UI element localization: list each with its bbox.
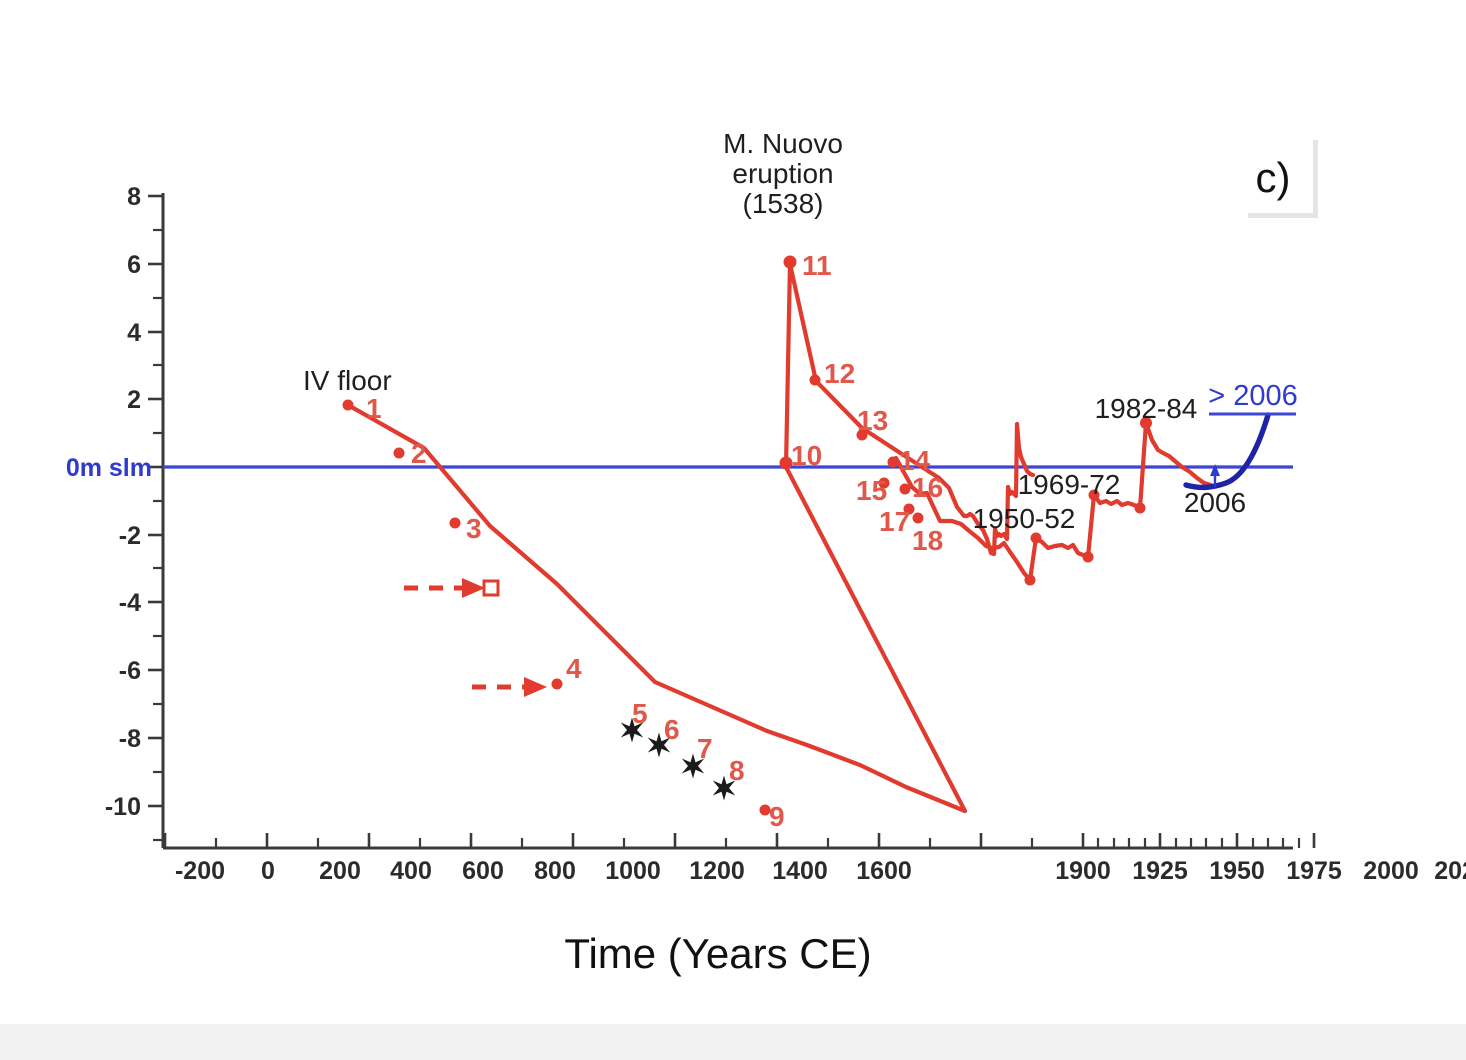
panel-letter-group: c) xyxy=(1243,135,1318,218)
point-label-12: 12 xyxy=(824,358,855,389)
data-point-4 xyxy=(552,679,563,690)
point-label-13: 13 xyxy=(857,405,888,436)
data-point-12 xyxy=(810,375,821,386)
y-tick-label: -8 xyxy=(119,725,141,753)
point-label-1: 1 xyxy=(366,393,382,424)
data-point-16 xyxy=(900,484,911,495)
x-tick-label: 2000 xyxy=(1363,857,1419,885)
point-label-16: 16 xyxy=(912,472,943,503)
x-tick-label: 800 xyxy=(534,857,576,885)
y-tick-label: -2 xyxy=(119,522,141,550)
label-2006: 2006 xyxy=(1184,487,1246,518)
point-label-5: 5 xyxy=(632,698,648,729)
point-label-6: 6 xyxy=(664,714,680,745)
x-tick-label: 1200 xyxy=(689,857,745,885)
x-tick-label: 1950 xyxy=(1209,857,1265,885)
x-axis-title: Time (Years CE) xyxy=(564,930,871,977)
bottom-strip xyxy=(0,1024,1466,1060)
data-point-trough xyxy=(1025,575,1036,586)
point-label-10: 10 xyxy=(791,440,822,471)
x-tick-label: 1600 xyxy=(856,857,912,885)
point-label-15: 15 xyxy=(856,475,887,506)
point-label-17: 17 xyxy=(879,506,910,537)
x-tick-label: 0 xyxy=(261,857,275,885)
chart-svg: 8 6 4 2 -2 -4 -6 -8 -10 xyxy=(0,0,1466,1060)
x-tick-label: 1925 xyxy=(1132,857,1188,885)
x-tick-label: 2025 xyxy=(1434,857,1466,885)
eruption-line-3: (1538) xyxy=(743,188,824,219)
x-tick-label: 600 xyxy=(462,857,504,885)
point-label-3: 3 xyxy=(466,513,482,544)
x-tick-label: 1000 xyxy=(605,857,661,885)
iv-floor-label: IV floor xyxy=(303,365,392,396)
label-gt-2006-group: > 2006 xyxy=(1208,380,1298,414)
y-tick-label: -6 xyxy=(119,657,141,685)
panel-letter: c) xyxy=(1256,154,1291,201)
data-point-3 xyxy=(450,518,461,529)
data-point-11 xyxy=(784,256,797,269)
eruption-line-2: eruption xyxy=(732,158,833,189)
point-label-8: 8 xyxy=(729,755,745,786)
y-tick-label: 2 xyxy=(127,386,141,414)
label-gt-2006: > 2006 xyxy=(1208,380,1298,412)
y-tick-label: -10 xyxy=(105,793,141,821)
data-point-18 xyxy=(913,513,924,524)
label-1969-72: 1969-72 xyxy=(1018,469,1121,500)
data-point-pre1969 xyxy=(1083,552,1094,563)
label-1982-84: 1982-84 xyxy=(1095,393,1198,424)
data-point-1950-52 xyxy=(1031,533,1042,544)
y-tick-label: 6 xyxy=(127,251,141,279)
x-tick-label: 1975 xyxy=(1286,857,1342,885)
x-tick-label: 1900 xyxy=(1055,857,1111,885)
data-point-2 xyxy=(394,448,405,459)
eruption-line-1: M. Nuovo xyxy=(723,128,843,159)
point-label-9: 9 xyxy=(769,801,785,832)
label-1950-52: 1950-52 xyxy=(973,503,1076,534)
data-point-pre1982 xyxy=(1135,503,1146,514)
point-label-11: 11 xyxy=(802,250,832,281)
point-label-4: 4 xyxy=(566,653,582,684)
data-point-1 xyxy=(343,400,354,411)
point-label-2: 2 xyxy=(411,438,427,469)
point-label-18: 18 xyxy=(912,525,943,556)
x-tick-label: 400 xyxy=(390,857,432,885)
figure-panel-c: 8 6 4 2 -2 -4 -6 -8 -10 xyxy=(0,0,1466,1060)
x-tick-label: -200 xyxy=(175,857,225,885)
x-tick-label: 200 xyxy=(319,857,361,885)
y-tick-label: 8 xyxy=(127,183,141,211)
y-tick-label: -4 xyxy=(119,589,141,617)
data-point-14 xyxy=(888,457,899,468)
y-tick-label: 4 xyxy=(127,319,141,347)
sea-level-label: 0m slm xyxy=(66,454,152,482)
x-tick-label: 1400 xyxy=(772,857,828,885)
open-square-marker xyxy=(484,581,498,595)
point-label-7: 7 xyxy=(697,733,713,764)
